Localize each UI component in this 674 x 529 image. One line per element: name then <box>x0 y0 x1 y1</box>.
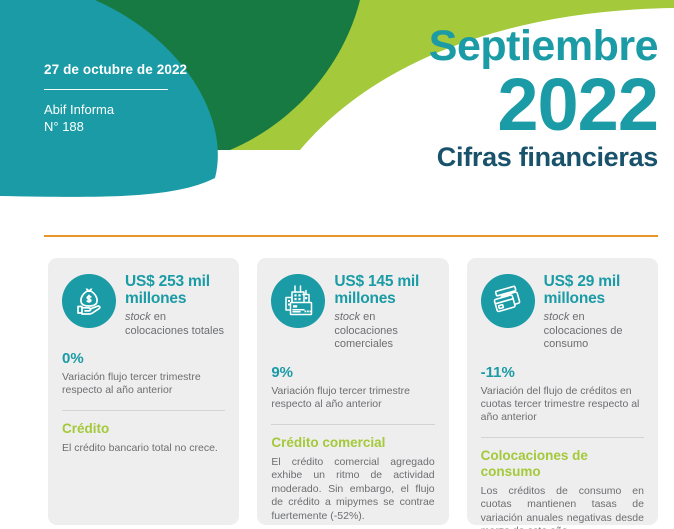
card-headline: US$ 145 mil millones stock en colocacion… <box>334 272 434 352</box>
card-colocaciones-consumo[interactable]: US$ 29 mil millones stock en colocacione… <box>467 258 658 525</box>
metrics-card-row: US$ 253 mil millones stock en colocacion… <box>48 258 658 525</box>
header-title-block: Septiembre 2022 Cifras financieras <box>429 24 658 172</box>
title-year: 2022 <box>429 70 658 140</box>
card-headline: US$ 29 mil millones stock en colocacione… <box>544 272 644 352</box>
credit-cards-icon <box>481 274 535 328</box>
issue-number: N° 188 <box>44 118 244 135</box>
card-variation-value: 0% <box>62 350 225 367</box>
card-variation-value: -11% <box>481 364 644 381</box>
card-headline: US$ 253 mil millones stock en colocacion… <box>125 272 225 338</box>
card-variation-desc: Variación del flujo de créditos en cuota… <box>481 385 644 424</box>
buildings-credit-card-icon <box>271 274 325 328</box>
stock-italic: stock <box>334 311 360 323</box>
report-page: 27 de octubre de 2022 Abif Informa N° 18… <box>0 0 674 529</box>
card-variation-desc: Variación flujo tercer trimestre respect… <box>62 371 225 397</box>
title-subtitle: Cifras financieras <box>429 142 658 172</box>
header-meta: 27 de octubre de 2022 Abif Informa N° 18… <box>44 62 244 135</box>
card-body: Los créditos de consumo en cuotas mantie… <box>481 485 644 529</box>
money-bag-in-hand-icon <box>62 274 116 328</box>
stock-italic: stock <box>125 311 151 323</box>
card-header: US$ 29 mil millones stock en colocacione… <box>481 272 644 352</box>
card-stock-desc: stock en colocaciones comerciales <box>334 311 434 352</box>
card-title: Colocaciones de consumo <box>481 448 644 480</box>
stock-italic: stock <box>544 311 570 323</box>
card-variation-desc: Variación flujo tercer trimestre respect… <box>271 385 434 411</box>
header-divider <box>44 89 168 90</box>
card-header: US$ 145 mil millones stock en colocacion… <box>271 272 434 352</box>
header-banner: 27 de octubre de 2022 Abif Informa N° 18… <box>0 0 674 222</box>
card-stock-desc: stock en colocaciones de consumo <box>544 311 644 352</box>
card-credito[interactable]: US$ 253 mil millones stock en colocacion… <box>48 258 239 525</box>
card-body: El crédito bancario total no crece. <box>62 442 225 456</box>
card-divider <box>62 410 225 411</box>
card-credito-comercial[interactable]: US$ 145 mil millones stock en colocacion… <box>257 258 448 525</box>
card-title: Crédito comercial <box>271 435 434 451</box>
gold-divider <box>44 235 658 237</box>
card-amount: US$ 29 mil millones <box>544 273 644 307</box>
card-amount: US$ 253 mil millones <box>125 273 225 307</box>
publication-name: Abif Informa <box>44 101 244 118</box>
card-title: Crédito <box>62 421 225 437</box>
card-stock-desc: stock en colocaciones totales <box>125 311 225 338</box>
card-amount: US$ 145 mil millones <box>334 273 434 307</box>
card-variation-value: 9% <box>271 364 434 381</box>
card-divider <box>481 437 644 438</box>
card-divider <box>271 424 434 425</box>
publication-date: 27 de octubre de 2022 <box>44 62 244 77</box>
card-header: US$ 253 mil millones stock en colocacion… <box>62 272 225 338</box>
card-body: El crédito comercial agregado exhibe un … <box>271 456 434 524</box>
title-month: Septiembre <box>429 24 658 68</box>
